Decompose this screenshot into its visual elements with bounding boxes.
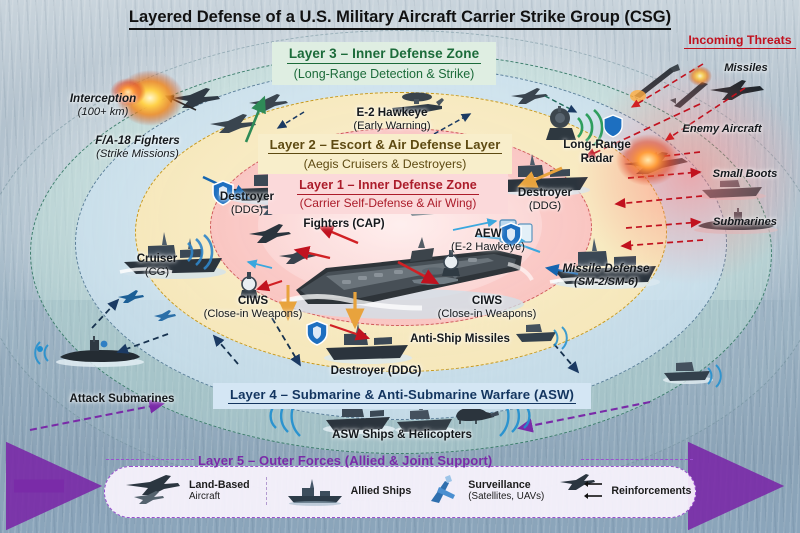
layer1-subtitle: (Carrier Self-Defense & Air Wing) [272,197,504,211]
layer5-item-surveillance: Surveillance (Satellites, UAVs) [425,473,544,509]
incoming-threats-heading: Incoming Threats [684,33,796,49]
fighter-aircraft-icon-3 [246,92,292,125]
label-anti-ship-missiles: Anti-Ship Missiles [390,332,530,346]
layer5-item-reinforcements: Reinforcements [558,472,691,510]
threat-label-enemy-aircraft: Enemy Aircraft [652,123,792,136]
label-destroyer-ddg-right: Destroyer (DDG) [500,186,590,213]
layer5-dash-left [106,459,194,460]
layer3-banner: Layer 3 – Inner Defense Zone (Long-Range… [272,42,496,85]
layer2-subtitle: (Aegis Cruisers & Destroyers) [262,157,508,171]
layer5-separator-1 [266,477,268,505]
layer5-label-surveillance: Surveillance (Satellites, UAVs) [468,479,544,503]
fighter-cap-icon-2 [276,246,320,277]
label-ciws-left: CIWS (Close-in Weapons) [190,294,316,321]
label-destroyer-ddg-bottom: Destroyer (DDG) [310,364,442,378]
threat-enemy-aircraft-icon-1 [706,74,770,113]
threat-label-missiles: Missiles [706,62,786,75]
aircraft-arrow-icon [558,472,606,510]
blue-aircraft-icon-2 [152,308,178,331]
label-cruiser-cg: Cruiser (CG) [112,252,202,279]
label-ciws-right: CIWS (Close-in Weapons) [424,294,550,321]
aegis-shield-icon-4 [306,320,328,351]
layer1-title: Layer 1 – Inner Defense Zone [297,178,479,195]
layer2-title: Layer 2 – Escort & Air Defense Layer [268,137,503,154]
blue-aircraft-icon-1 [116,288,146,313]
jet-aircraft-icon [122,471,184,511]
layer5-label-allied-ships: Allied Ships [351,485,412,498]
sonar-emitter-icon-left [36,340,44,358]
label-fa18-fighters: F/A-18 Fighters (Strike Missions) [70,134,205,161]
layer1-banner: Layer 1 – Inner Defense Zone (Carrier Se… [268,174,508,214]
layer3-subtitle: (Long-Range Detection & Strike) [276,67,492,82]
attack-submarine-icon [52,336,148,377]
layer5-items-row: Land-Based Aircraft Allied Ships [104,466,694,516]
layer4-title: Layer 4 – Submarine & Anti-Submarine War… [228,387,576,404]
label-fighters-cap: Fighters (CAP) [292,217,396,231]
satellite-icon [425,473,463,509]
outer-escort-ship-icon-far-right [660,356,716,391]
layer5-item-land-based-aircraft: Land-Based Aircraft [122,471,250,511]
layer5-label-reinforcements: Reinforcements [611,485,691,498]
label-e2-hawkeye: E-2 Hawkeye (Early Warning) [330,106,454,133]
label-attack-submarines: Attack Submarines [56,392,188,406]
page-title-text: Layered Defense of a U.S. Military Aircr… [129,8,671,30]
layer2-banner: Layer 2 – Escort & Air Defense Layer (Ae… [258,134,512,174]
layer5-item-allied-ships: Allied Ships [284,476,412,506]
label-missile-defense: Missile Defense (SM-2/SM-6) [545,262,667,289]
layer3-title: Layer 3 – Inner Defense Zone [287,46,481,64]
label-destroyer-ddg-left: Destroyer (DDG) [202,190,292,217]
label-interception: Interception (100+ km) [48,92,158,119]
diagram-canvas: Layered Defense of a U.S. Military Aircr… [0,0,800,533]
label-asw-ships-helicopters: ASW Ships & Helicopters [318,428,486,442]
threat-label-small-boots: Small Boots [690,168,800,181]
layer5-dash-right [581,459,693,460]
threat-label-submarines: Submarines [690,216,800,229]
warship-icon [284,476,346,506]
layer4-banner: Layer 4 – Submarine & Anti-Submarine War… [213,383,591,409]
label-long-range-radar: Long-Range Radar [548,138,646,165]
layer5-label-land-based-aircraft: Land-Based Aircraft [189,479,250,503]
ciws-turret-right-icon [434,250,468,285]
label-aew: AEW (E-2 Hawkeye) [440,227,536,254]
page-title: Layered Defense of a U.S. Military Aircr… [0,8,800,27]
